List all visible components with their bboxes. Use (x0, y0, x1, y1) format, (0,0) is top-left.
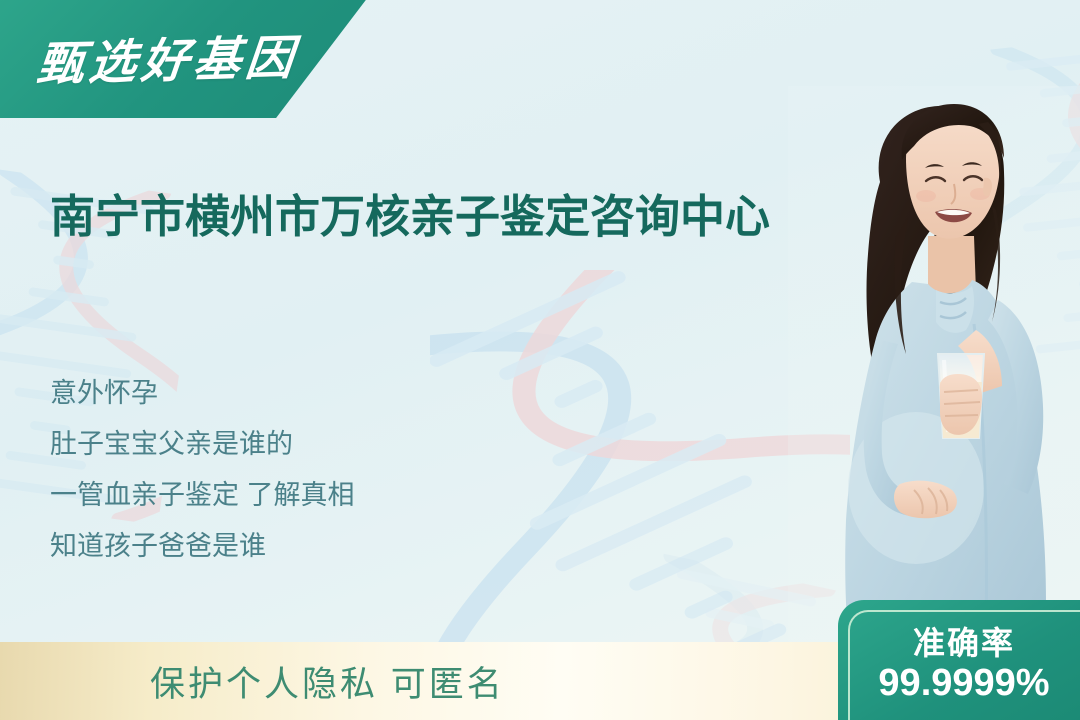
promo-banner: 甄选好基因 南宁市横州市万核亲子鉴定咨询中心 意外怀孕 肚子宝宝父亲是谁的 一管… (0, 0, 1080, 720)
marketing-copy: 意外怀孕 肚子宝宝父亲是谁的 一管血亲子鉴定 了解真相 知道孩子爸爸是谁 (50, 368, 570, 572)
copy-line: 意外怀孕 (50, 368, 570, 419)
copy-line: 一管血亲子鉴定 了解真相 (50, 470, 570, 521)
accuracy-label: 准确率 (838, 618, 1080, 664)
copy-line: 肚子宝宝父亲是谁的 (50, 419, 570, 470)
accuracy-badge: 准确率 99.9999% (838, 600, 1080, 720)
page-title: 南宁市横州市万核亲子鉴定咨询中心 (50, 188, 850, 246)
pregnant-woman-photo (788, 86, 1080, 676)
privacy-text: 保护个人隐私 可匿名 (150, 656, 505, 707)
accuracy-value: 99.9999% (838, 662, 1080, 705)
copy-line: 知道孩子爸爸是谁 (50, 521, 570, 572)
brand-badge-label: 甄选好基因 (34, 19, 301, 95)
